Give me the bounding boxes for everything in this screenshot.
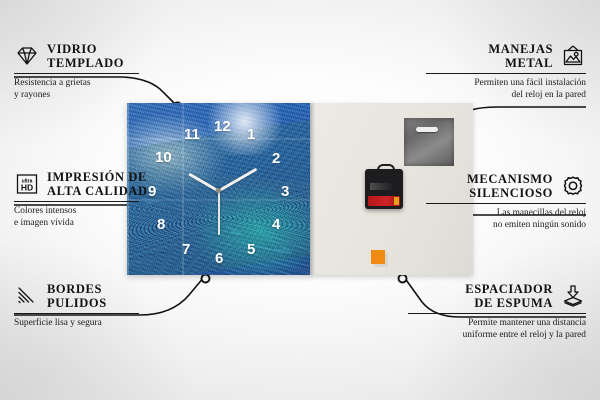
callout-description: Permite mantener una distancia uniforme … [408, 317, 586, 341]
callout-title: BORDES PULIDOS [47, 282, 107, 310]
callout-manejas-metal[interactable]: MANEJAS METAL Permiten una fácil instala… [426, 42, 586, 101]
callout-title: MECANISMO SILENCIOSO [467, 172, 553, 200]
diamond-icon [14, 44, 40, 68]
callout-title: MANEJAS METAL [488, 42, 553, 70]
svg-text:HD: HD [21, 183, 33, 193]
callout-rule [426, 203, 586, 204]
foam-spacer [371, 250, 385, 264]
callout-impresion-alta-calidad[interactable]: ultra HD IMPRESIÓN DE ALTA CALIDAD Color… [14, 170, 139, 229]
callout-description: Resistencia a grietas y rayones [14, 77, 139, 101]
callout-header: VIDRIO TEMPLADO [14, 42, 139, 70]
product-image: 12 1 2 3 4 5 6 7 8 9 10 11 [127, 103, 473, 275]
callout-title: IMPRESIÓN DE ALTA CALIDAD [47, 170, 148, 198]
callout-espaciador-espuma[interactable]: ESPACIADOR DE ESPUMA Permite mantener un… [408, 282, 586, 341]
callout-title: VIDRIO TEMPLADO [47, 42, 124, 70]
clock-second-hand [218, 191, 220, 235]
clock-numeral-7: 7 [182, 242, 190, 257]
clock-numeral-6: 6 [215, 251, 223, 266]
clock-numeral-8: 8 [157, 217, 165, 232]
callout-mecanismo-silencioso[interactable]: MECANISMO SILENCIOSO Las manecillas del … [426, 172, 586, 231]
picture-hanger-icon [560, 44, 586, 68]
callout-vidrio-templado[interactable]: VIDRIO TEMPLADO Resistencia a grietas y … [14, 42, 139, 101]
gear-icon [560, 174, 586, 198]
clock-numeral-12: 12 [214, 119, 231, 134]
clock-numeral-4: 4 [272, 217, 280, 232]
callout-rule [426, 73, 586, 74]
callout-header: MANEJAS METAL [426, 42, 586, 70]
callout-bordes-pulidos[interactable]: BORDES PULIDOS Superficie lisa y segura [14, 282, 139, 329]
infographic-stage: 12 1 2 3 4 5 6 7 8 9 10 11 [0, 0, 600, 400]
callout-description: Colores intensos e imagen vívida [14, 205, 139, 229]
clock-numeral-3: 3 [281, 184, 289, 199]
battery [368, 196, 400, 206]
callout-header: ultra HD IMPRESIÓN DE ALTA CALIDAD [14, 170, 139, 198]
callout-rule [14, 201, 139, 202]
clock-numeral-1: 1 [247, 127, 255, 142]
callout-rule [408, 313, 586, 314]
hanger-slot [416, 127, 438, 132]
foam-spacer-icon [560, 284, 586, 308]
clock-numeral-5: 5 [247, 242, 255, 257]
callout-description: Las manecillas del reloj no emiten ningú… [426, 207, 586, 231]
clock-face-panel: 12 1 2 3 4 5 6 7 8 9 10 11 [127, 103, 310, 275]
clock-numeral-2: 2 [272, 151, 280, 166]
metal-hanger-plate [404, 118, 454, 166]
quartz-movement [365, 169, 403, 209]
callout-rule [14, 313, 139, 314]
callout-title: ESPACIADOR DE ESPUMA [465, 282, 553, 310]
movement-hanger-loop [377, 164, 395, 174]
callout-header: BORDES PULIDOS [14, 282, 139, 310]
ultra-hd-icon: ultra HD [14, 172, 40, 196]
movement-highlight [370, 183, 394, 190]
clock-pivot [216, 188, 221, 193]
polished-edges-icon [14, 284, 40, 308]
clock-numeral-11: 11 [184, 127, 200, 142]
callout-rule [14, 73, 139, 74]
callout-description: Superficie lisa y segura [14, 317, 139, 329]
callout-header: MECANISMO SILENCIOSO [426, 172, 586, 200]
callout-header: ESPACIADOR DE ESPUMA [408, 282, 586, 310]
callout-description: Permiten una fácil instalación del reloj… [426, 77, 586, 101]
clock-numeral-10: 10 [155, 150, 172, 165]
clock-numeral-9: 9 [148, 184, 156, 199]
